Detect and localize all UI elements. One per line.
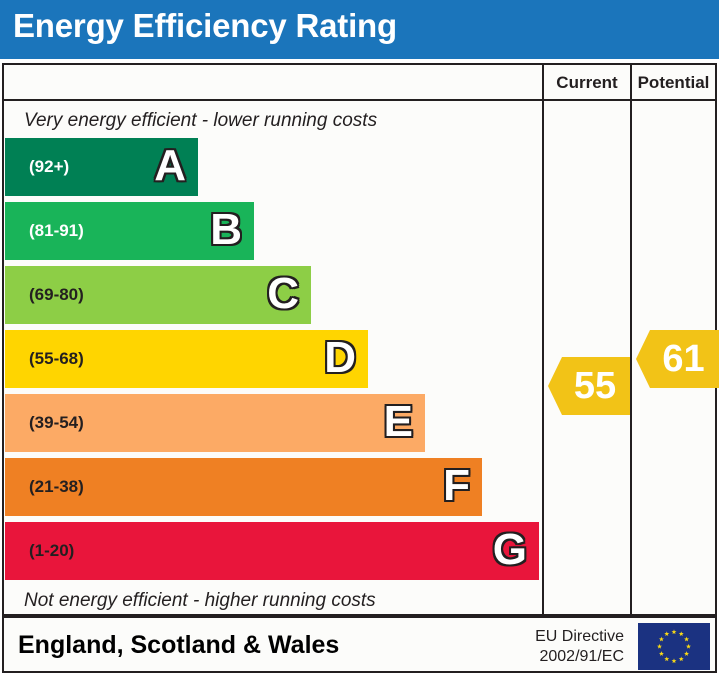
footer-bar: England, Scotland & Wales EU Directive 2… (2, 616, 717, 673)
rating-band-e: (39-54)E (5, 394, 425, 452)
caption-not-efficient: Not energy efficient - higher running co… (24, 590, 376, 612)
page-title: Energy Efficiency Rating (13, 7, 397, 45)
potential-rating-value: 61 (650, 340, 704, 378)
current-rating-arrow: 55 (548, 357, 630, 415)
rating-band-g: (1-20)G (5, 522, 539, 580)
rating-bands: (92+)A(81-91)B(69-80)C(55-68)D(39-54)E(2… (4, 138, 542, 588)
current-column-divider (542, 65, 544, 614)
band-range-label: (69-80) (29, 285, 84, 305)
band-range-label: (21-38) (29, 477, 84, 497)
caption-very-efficient: Very energy efficient - lower running co… (24, 110, 377, 132)
rating-band-b: (81-91)B (5, 202, 254, 260)
band-range-label: (81-91) (29, 221, 84, 241)
band-letter-d: D (324, 336, 356, 380)
band-letter-a: A (154, 144, 186, 188)
energy-efficiency-certificate: Energy Efficiency Rating Current Potenti… (0, 0, 719, 675)
rating-band-f: (21-38)F (5, 458, 482, 516)
band-letter-g: G (493, 528, 527, 572)
footer-region-label: England, Scotland & Wales (18, 631, 339, 660)
band-letter-e: E (384, 400, 413, 444)
band-range-label: (55-68) (29, 349, 84, 369)
rating-band-a: (92+)A (5, 138, 198, 196)
rating-band-c: (69-80)C (5, 266, 311, 324)
band-letter-c: C (267, 272, 299, 316)
band-letter-b: B (210, 208, 242, 252)
band-range-label: (39-54) (29, 413, 84, 433)
column-header-potential: Potential (632, 73, 715, 93)
rating-band-d: (55-68)D (5, 330, 368, 388)
band-letter-f: F (443, 464, 470, 508)
potential-column-divider (630, 65, 632, 614)
footer-directive-line2: 2002/91/EC (514, 647, 624, 667)
band-range-label: (1-20) (29, 541, 74, 561)
band-range-label: (92+) (29, 157, 69, 177)
title-bar: Energy Efficiency Rating (0, 0, 719, 59)
footer-directive: EU Directive 2002/91/EC (514, 627, 624, 667)
eu-flag-icon (638, 623, 710, 670)
potential-rating-arrow: 61 (636, 330, 719, 388)
footer-directive-line1: EU Directive (514, 627, 624, 647)
rating-table: Current Potential Very energy efficient … (2, 63, 717, 616)
current-rating-value: 55 (562, 367, 616, 405)
column-header-current: Current (544, 73, 630, 93)
